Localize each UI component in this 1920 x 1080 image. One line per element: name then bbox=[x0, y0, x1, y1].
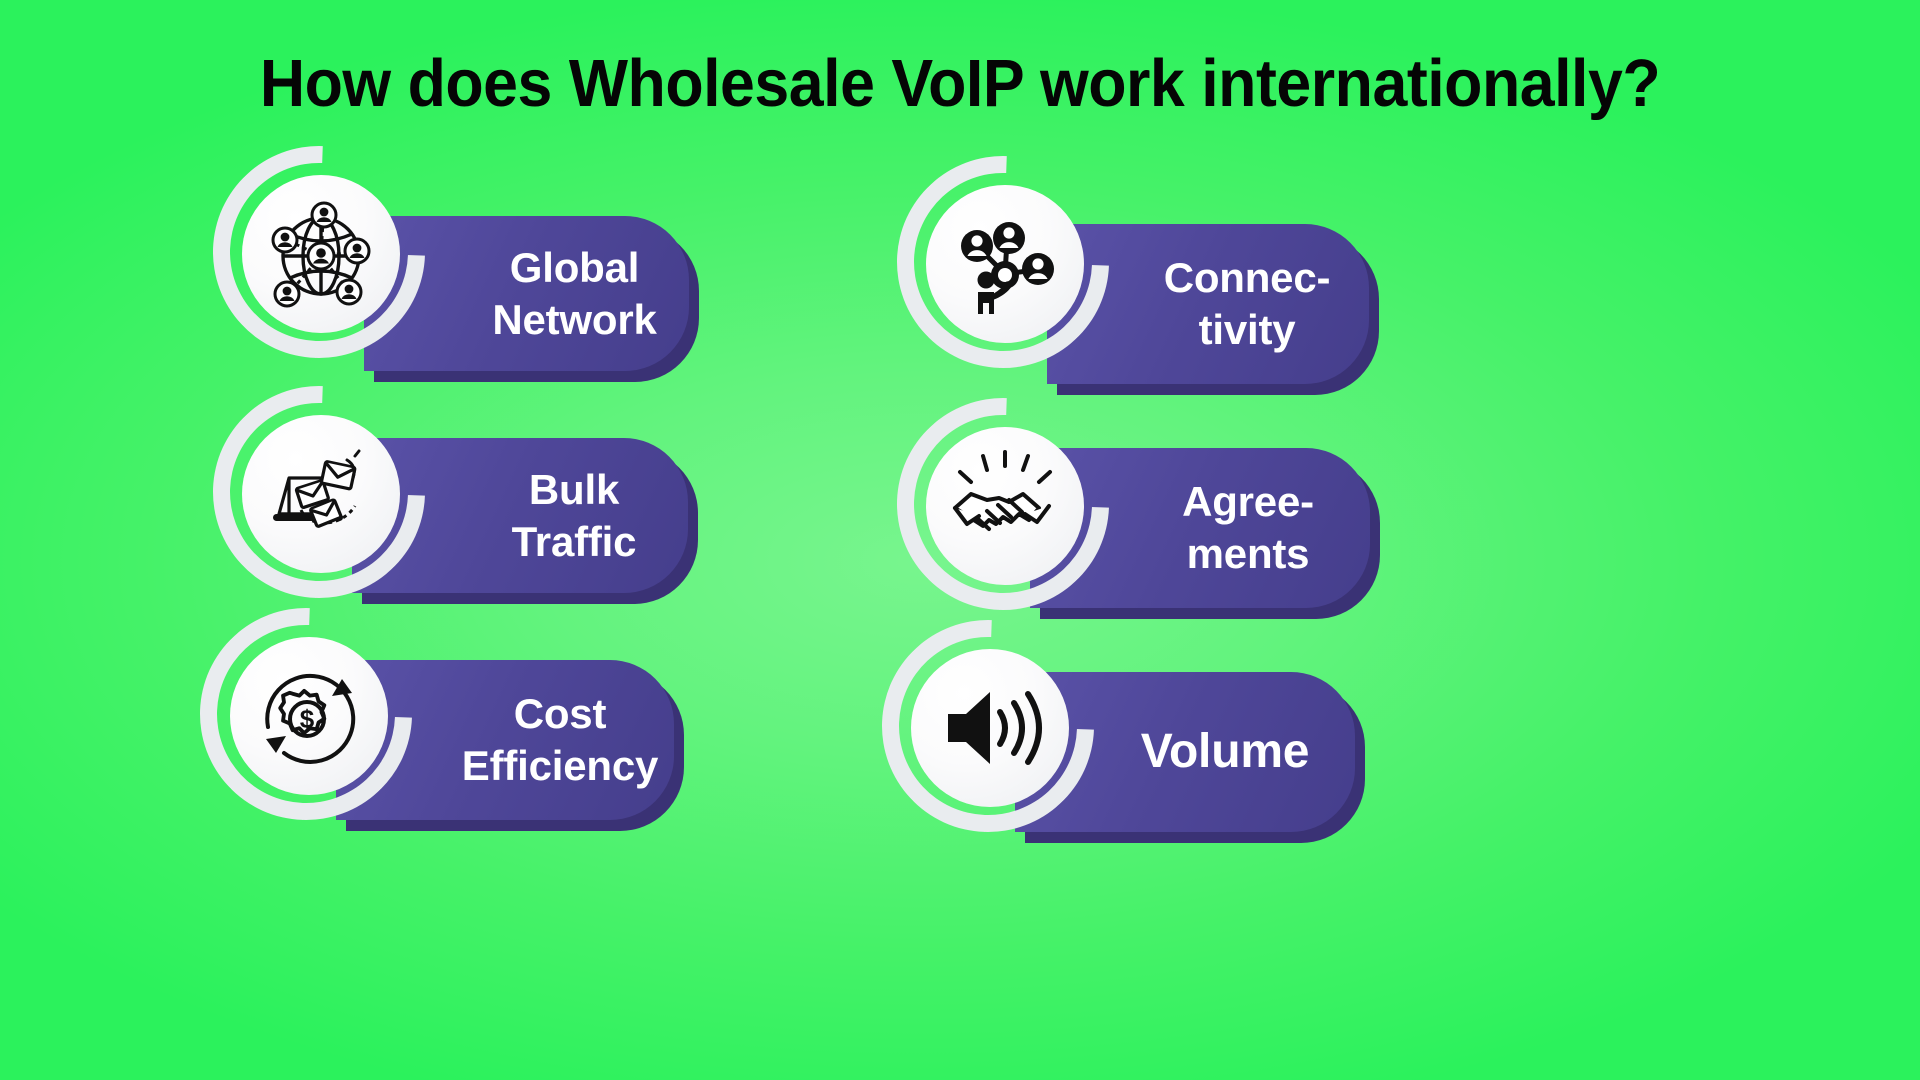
card-label: Agree- ments bbox=[1126, 448, 1370, 608]
handshake-icon bbox=[926, 427, 1084, 585]
card-label: Connec- tivity bbox=[1125, 224, 1369, 384]
card-label: Bulk Traffic bbox=[460, 438, 688, 593]
svg-text:$: $ bbox=[300, 704, 315, 734]
card-label: Volume bbox=[1095, 672, 1355, 832]
card-label: Cost Efficiency bbox=[446, 660, 674, 820]
laptop-mail-icon bbox=[242, 415, 400, 573]
speaker-volume-icon bbox=[911, 649, 1069, 807]
card-label: Global Network bbox=[460, 216, 689, 371]
person-network-icon bbox=[926, 185, 1084, 343]
page-title: How does Wholesale VoIP work internation… bbox=[62, 46, 1857, 122]
infographic-canvas: How does Wholesale VoIP work internation… bbox=[0, 0, 1920, 1080]
gear-dollar-cycle-icon: $ bbox=[230, 637, 388, 795]
globe-network-icon bbox=[242, 175, 400, 333]
